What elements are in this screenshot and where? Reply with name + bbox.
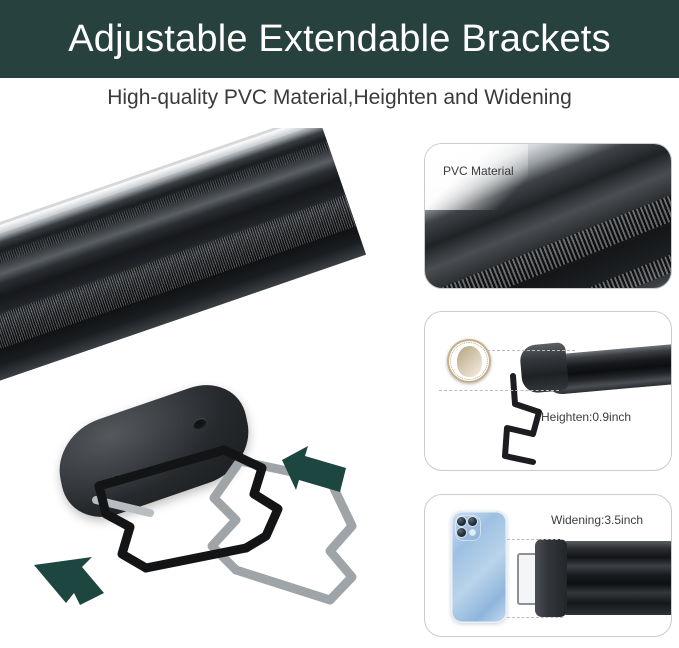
bracket-clip	[517, 553, 535, 605]
coin-face	[457, 346, 483, 377]
arrow-extend-outward	[30, 553, 108, 611]
dashed-width-guide-top	[507, 539, 563, 540]
subtitle: High-quality PVC Material,Heighten and W…	[0, 86, 679, 110]
widening-label: Widening:3.5inch	[551, 513, 643, 527]
panel-heighten: Heighten:0.9inch	[424, 311, 672, 471]
arrow-extend-inward	[278, 444, 352, 500]
dashed-width-guide-bottom	[507, 617, 563, 618]
light-bar-end-cap-widening	[535, 539, 567, 617]
camera-flash	[470, 530, 475, 535]
camera-lens-1	[457, 517, 466, 526]
panel-widening: Widening:3.5inch	[424, 494, 672, 637]
smartphone-icon	[451, 511, 507, 623]
heighten-label: Heighten:0.9inch	[541, 410, 631, 424]
dashed-guide-top	[487, 350, 575, 351]
page-title: Adjustable Extendable Brackets	[68, 18, 611, 61]
camera-lens-2	[468, 517, 477, 526]
pvc-material-label: PVC Material	[443, 164, 514, 178]
camera-module	[455, 515, 481, 541]
hero-product-image	[0, 128, 412, 648]
light-bar-widening	[563, 541, 672, 615]
dashed-guide-bottom	[439, 390, 559, 391]
camera-lens-3	[457, 528, 466, 537]
header-banner: Adjustable Extendable Brackets	[0, 0, 679, 78]
panel-pvc-material: PVC Material	[424, 143, 672, 289]
